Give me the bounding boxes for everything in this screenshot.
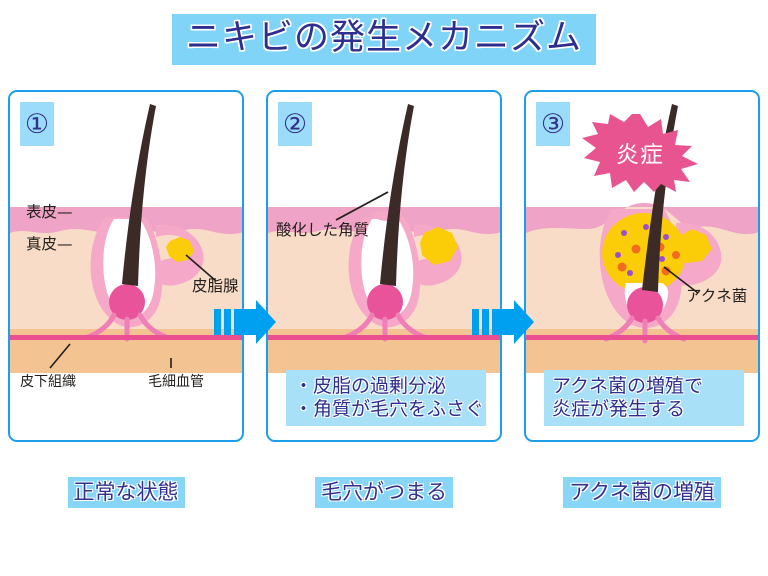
label-acne-bacteria: アクネ菌 (686, 288, 747, 306)
right-arrow-icon (472, 300, 534, 344)
label-capillary: 毛細血管 (148, 374, 204, 390)
skin-diagram-svg-3 (526, 197, 760, 373)
foot-caption-2: 毛穴がつまる (266, 477, 502, 508)
label-sebaceous-gland: 皮脂腺 (192, 278, 239, 296)
foot-caption-text-2: 毛穴がつまる (315, 477, 453, 508)
caption-box-3: アクネ菌の増殖で 炎症が発生する (544, 370, 744, 426)
step-number-2: ② (283, 111, 307, 138)
inflammation-label: 炎症 (582, 114, 698, 192)
step-number-badge-3: ③ (536, 102, 570, 146)
caption-line-1: ・皮脂の過剰分泌 (294, 375, 482, 397)
skin-cross-section-3 (526, 197, 760, 373)
step-number-1: ① (25, 111, 49, 138)
caption-box-2: ・皮脂の過剰分泌 ・角質が毛穴をふさぐ (286, 370, 486, 426)
foot-caption-text-1: 正常な状態 (68, 477, 185, 508)
panel-step-1: ① (8, 90, 244, 442)
page-title: ニキビの発生メカニズム (172, 14, 596, 65)
label-subcutaneous-tissue: 皮下組織 (20, 374, 76, 390)
panel-step-3: ③ (524, 90, 760, 442)
inflammation-burst: 炎症 (582, 114, 698, 192)
foot-caption-3: アクネ菌の増殖 (524, 477, 760, 508)
caption-line-2: ・角質が毛穴をふさぐ (294, 398, 482, 420)
arrow-step-1-to-2 (214, 300, 276, 344)
title-bar: ニキビの発生メカニズム (0, 14, 768, 65)
step-number-3: ③ (541, 111, 565, 138)
arrow-step-2-to-3 (472, 300, 534, 344)
foot-caption-1: 正常な状態 (8, 477, 244, 508)
foot-caption-text-3: アクネ菌の増殖 (563, 477, 721, 508)
right-arrow-icon (214, 300, 276, 344)
step-number-badge-1: ① (20, 102, 54, 146)
panel-step-2: ② 酸化した角質 ・皮脂の過剰分泌 ・角質が毛穴をふさぐ (266, 90, 502, 442)
caption-line-2: 炎症が発生する (552, 398, 740, 420)
label-oxidized-keratin: 酸化した角質 (276, 222, 369, 240)
step-number-badge-2: ② (278, 102, 312, 146)
caption-line-1: アクネ菌の増殖で (552, 375, 740, 397)
label-epidermis: 表皮— (26, 204, 73, 222)
label-dermis: 真皮— (26, 236, 73, 254)
